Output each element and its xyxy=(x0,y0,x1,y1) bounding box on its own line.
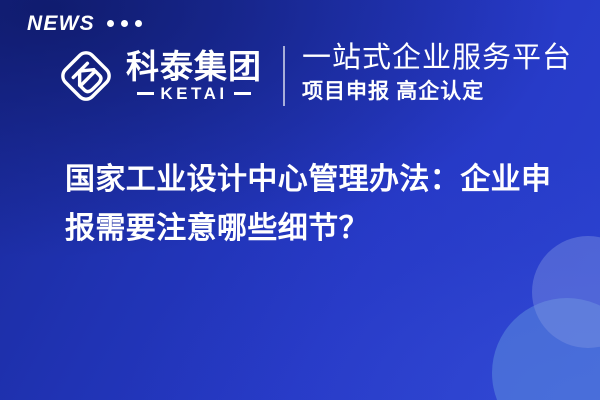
brand-lockup: 科泰集团 KETAI xyxy=(56,40,262,112)
ellipsis-dot xyxy=(121,20,128,27)
news-label: NEWS xyxy=(27,13,95,34)
brand-divider xyxy=(283,46,285,106)
wordmark-rule-left xyxy=(137,92,154,95)
brand-wordmark: 科泰集团 KETAI xyxy=(126,50,262,103)
tagline-main: 一站式企业服务平台 xyxy=(302,41,572,75)
headline-text: 国家工业设计中心管理办法：企业申报需要注意哪些细节？ xyxy=(65,156,577,253)
brand-name-en: KETAI xyxy=(160,85,227,102)
brand-name-cn: 科泰集团 xyxy=(126,50,262,84)
brand-name-en-row: KETAI xyxy=(137,85,250,102)
news-eyebrow: NEWS xyxy=(27,13,142,34)
decorative-circle-large xyxy=(492,298,600,400)
news-banner: NEWS 科泰集团 KETAI xyxy=(0,0,600,400)
ellipsis-dot xyxy=(135,20,142,27)
wordmark-rule-right xyxy=(234,92,251,95)
ketai-diamond-logo-icon xyxy=(56,46,116,106)
ellipsis-dot xyxy=(107,20,114,27)
ellipsis-dots-icon xyxy=(107,20,142,27)
tagline-block: 一站式企业服务平台 项目申报 高企认定 xyxy=(302,41,572,104)
tagline-sub: 项目申报 高企认定 xyxy=(302,78,572,104)
